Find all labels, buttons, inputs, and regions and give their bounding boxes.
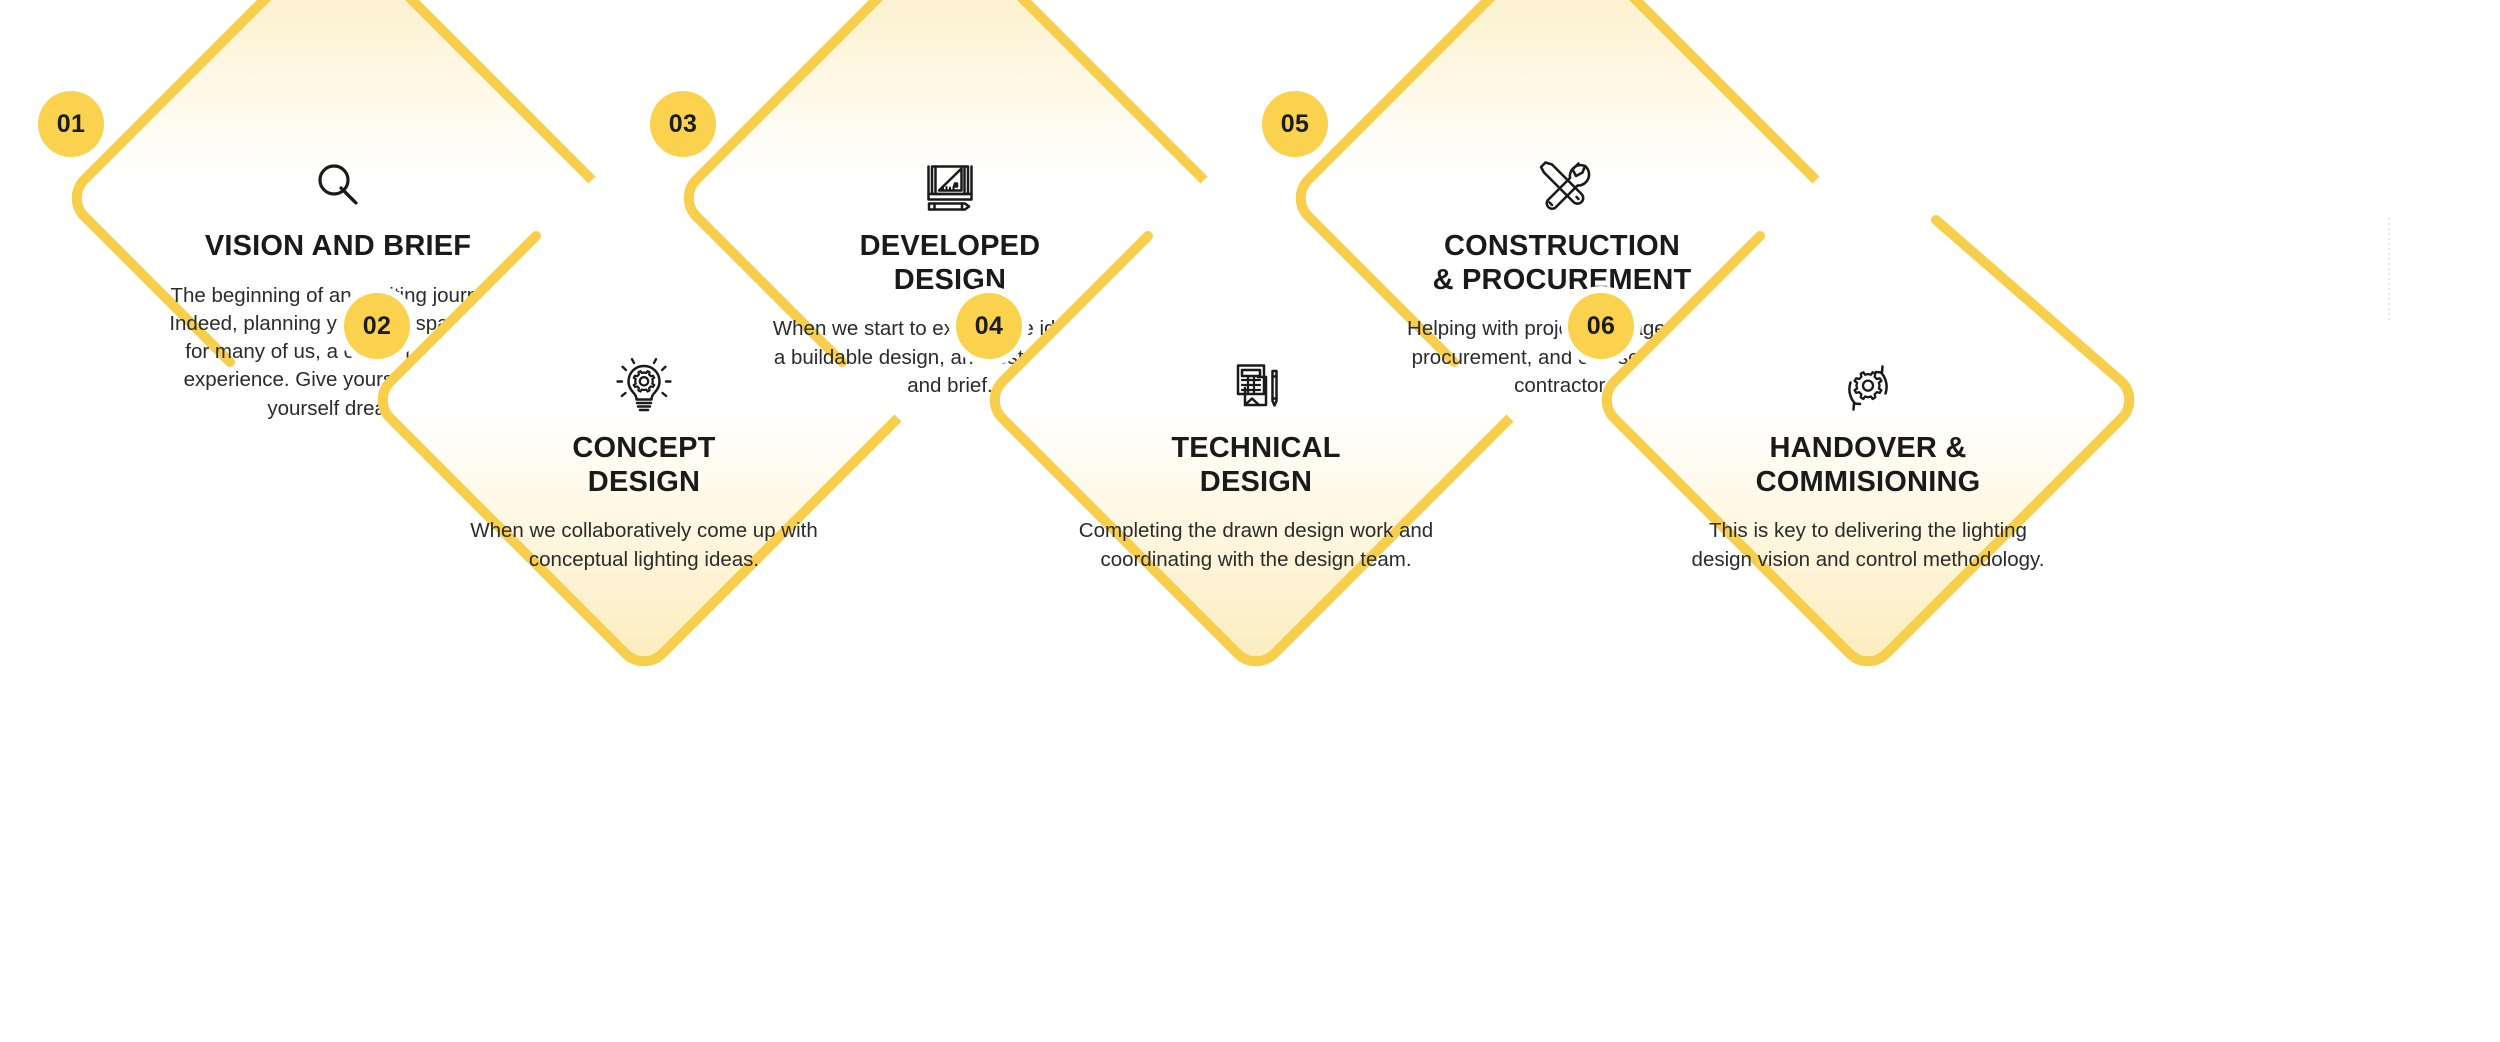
process-step-06[interactable]: 06 HANDOVER & COMMISIONING This is key t… — [1588, 120, 2148, 680]
step-badge-02[interactable]: 02 — [344, 293, 410, 359]
step-number-03: 03 — [669, 112, 698, 137]
infographic-canvas: 01 VISION AND BRIEF The beginning of an … — [0, 0, 2500, 1042]
diamond-shape-06 — [1588, 120, 2148, 680]
step-badge-01[interactable]: 01 — [38, 91, 104, 157]
step-number-02: 02 — [363, 314, 392, 339]
step-badge-05[interactable]: 05 — [1262, 91, 1328, 157]
alignment-guide-line — [2388, 218, 2390, 322]
step-badge-03[interactable]: 03 — [650, 91, 716, 157]
step-number-04: 04 — [975, 314, 1004, 339]
step-badge-04[interactable]: 04 — [956, 293, 1022, 359]
step-badge-06[interactable]: 06 — [1568, 293, 1634, 359]
step-number-05: 05 — [1281, 112, 1310, 137]
step-number-01: 01 — [57, 112, 86, 137]
step-number-06: 06 — [1587, 314, 1616, 339]
